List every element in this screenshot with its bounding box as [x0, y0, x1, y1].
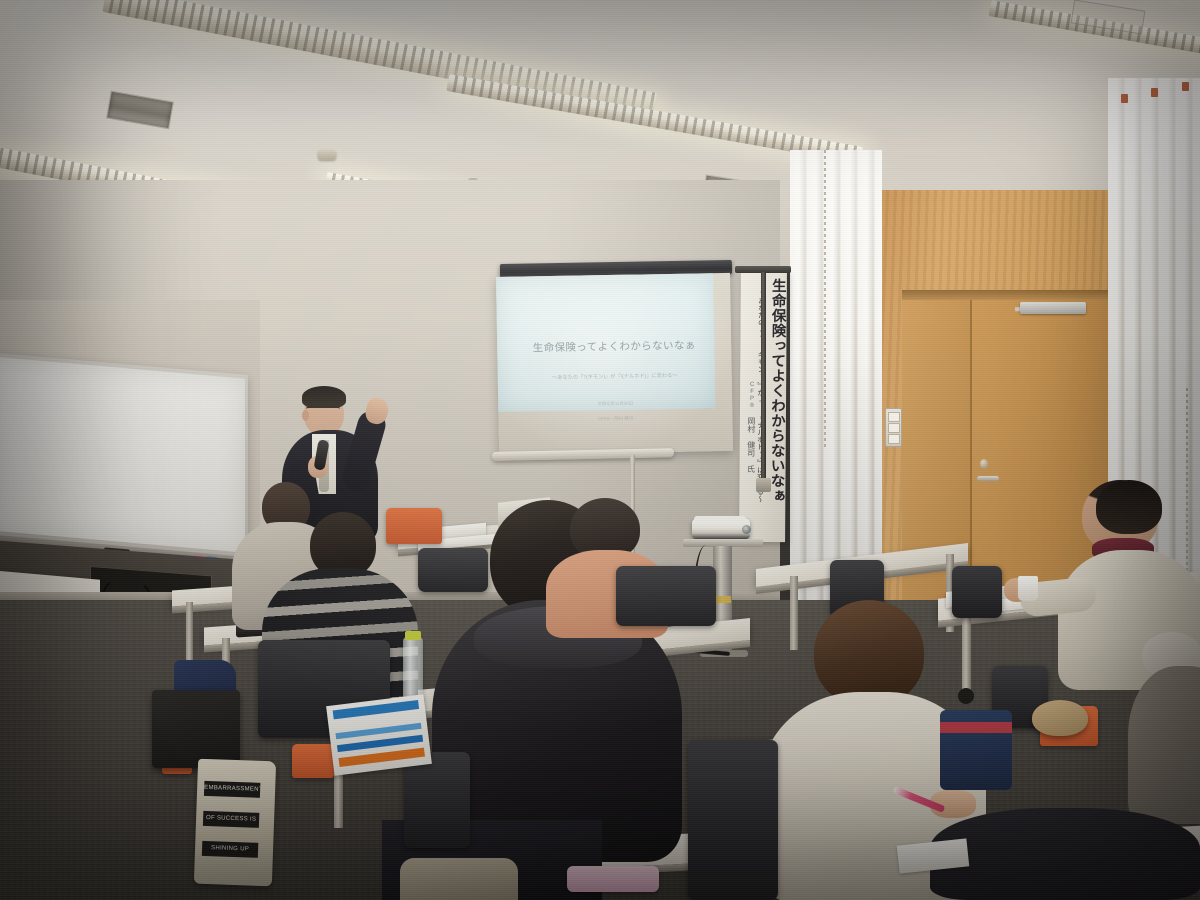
door-closer [1020, 302, 1086, 314]
black-tote [152, 690, 240, 768]
banner-stand-pole [761, 272, 766, 482]
paper-cup [1018, 576, 1038, 601]
handout-band-orange [339, 748, 425, 767]
door-lock-icon[interactable] [980, 459, 988, 469]
presenter-ear [302, 410, 309, 421]
handout-header [333, 700, 419, 719]
beige-item [400, 858, 518, 900]
door-handle[interactable] [977, 476, 999, 481]
projector-top [694, 516, 746, 522]
door-transom [902, 290, 1114, 300]
presenter-hair [302, 386, 346, 408]
banner-title: 生命保険ってよくわからないなぁ [769, 278, 785, 503]
chair-center-back[interactable] [418, 548, 488, 592]
banner-credential: CFP® [749, 382, 755, 410]
light-switch-panel[interactable] [885, 408, 902, 447]
projector-lens-icon [742, 525, 751, 534]
torso [930, 808, 1200, 900]
presenter-glasses-icon [306, 406, 340, 415]
projection-screen: 生命保険ってよくわからないなぁ ～あなたの『?(ギモン)』が『!(ナルホド)』に… [496, 273, 733, 455]
chair-front-right[interactable] [688, 740, 778, 900]
smoke-detector-icon [318, 150, 336, 160]
chair-orange-back[interactable] [386, 508, 442, 544]
handout-paper [326, 694, 432, 775]
seminar-room-photo: 生命保険ってよくわからないなぁ ～あなたの『?(ギモン)』が『!(ナルホド)』に… [0, 0, 1200, 900]
chair-orange-mid[interactable] [292, 744, 334, 778]
banner-presenter: 岡村 健司 氏 [747, 417, 755, 473]
banner-pole-cap [756, 478, 771, 492]
canvas-tote-bag: EMBARRASSMENT OF SUCCESS IS SHINING UP [194, 759, 276, 887]
head [814, 600, 924, 706]
smartphone[interactable] [567, 866, 659, 892]
tote-text-line-2: OF SUCCESS IS [203, 811, 259, 828]
vertical-blinds-left [790, 150, 882, 620]
chair-peach-top[interactable] [616, 566, 716, 626]
whiteboard [0, 352, 248, 565]
hat-on-floor [1032, 700, 1088, 736]
backpack-stripe [940, 722, 1012, 733]
chair-left-front[interactable] [404, 752, 470, 848]
tote-text-line-3: SHINING UP [202, 841, 258, 858]
hair [1096, 480, 1162, 534]
bottle-cap [405, 631, 421, 640]
audience-bottom-right [930, 790, 1200, 900]
tote-text-line-1: EMBARRASSMENT [204, 781, 260, 798]
